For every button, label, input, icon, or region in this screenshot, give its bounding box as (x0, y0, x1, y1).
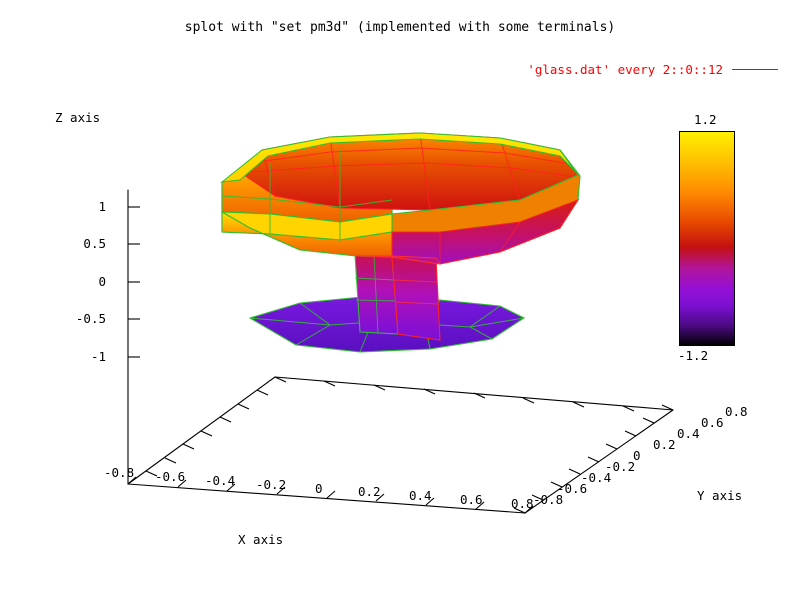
back-wall-ticks (146, 377, 634, 476)
x-axis-ticks (128, 477, 533, 513)
stem-left (355, 255, 398, 334)
base-left-edge (128, 377, 275, 484)
x-axis-line (128, 484, 525, 513)
gnuplot-canvas: splot with "set pm3d" (implemented with … (0, 0, 800, 600)
y-axis-ticks (514, 405, 673, 513)
stem-right (392, 256, 440, 340)
glass-surface (222, 133, 580, 352)
z-axis-ticks (128, 207, 140, 357)
plot-graphics (0, 0, 800, 600)
